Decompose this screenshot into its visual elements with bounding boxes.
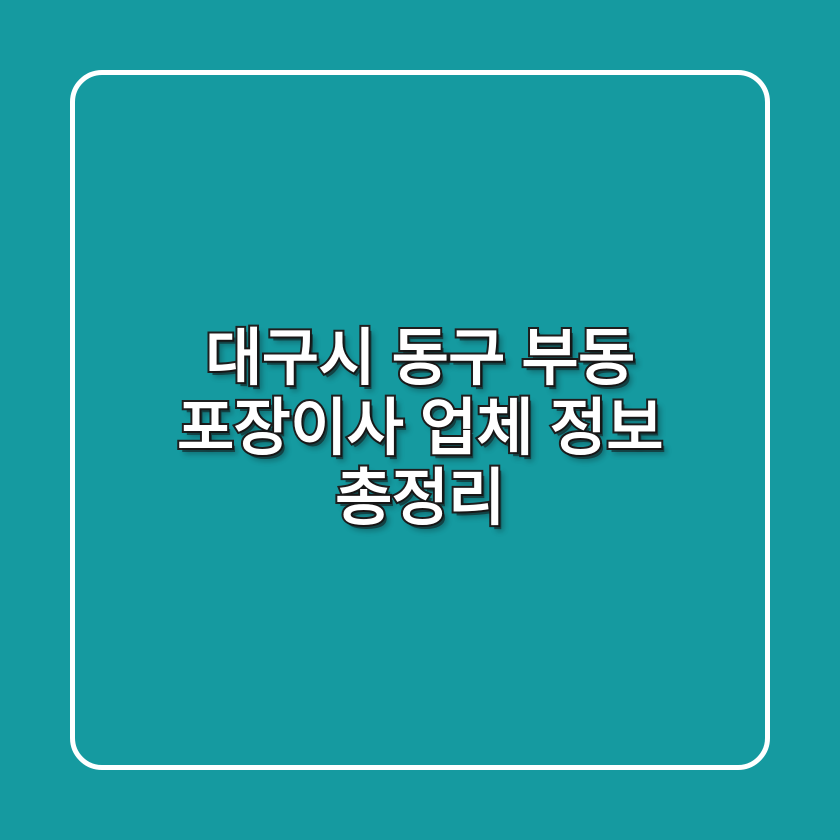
headline-block: 대구시 동구 부동 포장이사 업체 정보 총정리 (0, 0, 840, 840)
headline-line-3: 총정리 (0, 464, 840, 534)
headline-line-2: 포장이사 업체 정보 (0, 394, 840, 464)
title-card: 대구시 동구 부동 포장이사 업체 정보 총정리 (0, 0, 840, 840)
headline-line-1: 대구시 동구 부동 (0, 324, 840, 394)
